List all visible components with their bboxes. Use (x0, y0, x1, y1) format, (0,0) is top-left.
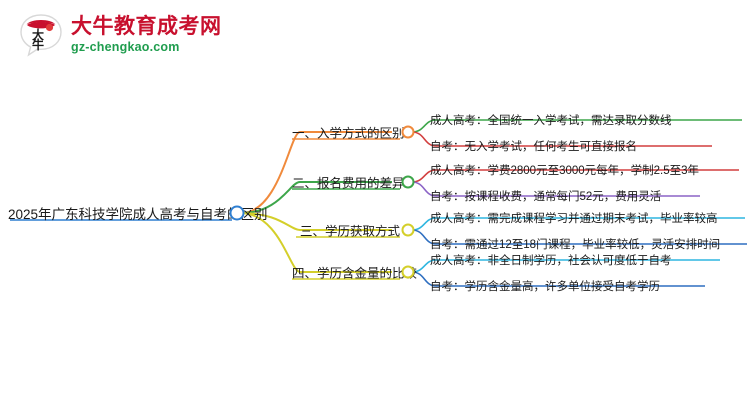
mindmap-branch-connector-dot-4[interactable] (402, 266, 415, 279)
mindmap-leaf-node-2-1[interactable]: 成人高考：学费2800元至3000元每年，学制2.5至3年 (430, 162, 699, 178)
mindmap-diagram: 2025年广东科技学院成人高考与自考的区别 一、入学方式的区别 成人高考：全国统… (0, 0, 750, 410)
mindmap-branch-node-1[interactable]: 一、入学方式的区别 (292, 123, 400, 142)
mindmap-root-node[interactable]: 2025年广东科技学院成人高考与自考的区别 (8, 203, 236, 223)
mindmap-leaf-node-3-2[interactable]: 自考：需通过12至18门课程，毕业率较低，灵活安排时间 (430, 236, 720, 252)
mindmap-branch-label-4: 四、学历含金量的比较 (292, 267, 417, 281)
mindmap-root-connector-dot[interactable] (230, 206, 245, 221)
mindmap-branch-connector-dot-1[interactable] (402, 126, 415, 139)
mindmap-leaf-node-2-2[interactable]: 自考：按课程收费，通常每门52元，费用灵活 (430, 188, 661, 204)
mindmap-leaf-label-4-2: 自考：学历含金量高，许多单位接受自考学历 (430, 281, 660, 293)
mindmap-leaf-node-1-1[interactable]: 成人高考：全国统一入学考试，需达录取分数线 (430, 112, 672, 128)
mindmap-leaf-label-4-1: 成人高考：非全日制学历，社会认可度低于自考 (430, 255, 672, 267)
mindmap-leaf-node-3-1[interactable]: 成人高考：需完成课程学习并通过期末考试，毕业率较高 (430, 210, 718, 226)
mindmap-leaf-label-3-2: 自考：需通过12至18门课程，毕业率较低，灵活安排时间 (430, 239, 720, 251)
mindmap-root-label: 2025年广东科技学院成人高考与自考的区别 (8, 207, 268, 222)
mindmap-leaf-label-2-1: 成人高考：学费2800元至3000元每年，学制2.5至3年 (430, 165, 699, 177)
mindmap-branch-node-3[interactable]: 三、学历获取方式 (296, 221, 404, 240)
mindmap-branch-label-3: 三、学历获取方式 (300, 225, 400, 239)
mindmap-branch-label-2: 二、报名费用的差异 (292, 177, 405, 191)
mindmap-leaf-label-1-2: 自考：无入学考试，任何考生可直接报名 (430, 141, 637, 153)
mindmap-leaf-label-2-2: 自考：按课程收费，通常每门52元，费用灵活 (430, 191, 661, 203)
mindmap-branch-connector-dot-2[interactable] (402, 176, 415, 189)
mindmap-leaf-node-4-2[interactable]: 自考：学历含金量高，许多单位接受自考学历 (430, 278, 660, 294)
mindmap-branch-label-1: 一、入学方式的区别 (292, 127, 405, 141)
mindmap-branch-node-2[interactable]: 二、报名费用的差异 (292, 173, 400, 192)
mindmap-leaf-node-4-1[interactable]: 成人高考：非全日制学历，社会认可度低于自考 (430, 252, 672, 268)
mindmap-branch-node-4[interactable]: 四、学历含金量的比较 (292, 263, 400, 282)
mindmap-leaf-label-3-1: 成人高考：需完成课程学习并通过期末考试，毕业率较高 (430, 213, 718, 225)
mindmap-leaf-label-1-1: 成人高考：全国统一入学考试，需达录取分数线 (430, 115, 672, 127)
mindmap-branch-connector-dot-3[interactable] (402, 224, 415, 237)
mindmap-leaf-node-1-2[interactable]: 自考：无入学考试，任何考生可直接报名 (430, 138, 637, 154)
